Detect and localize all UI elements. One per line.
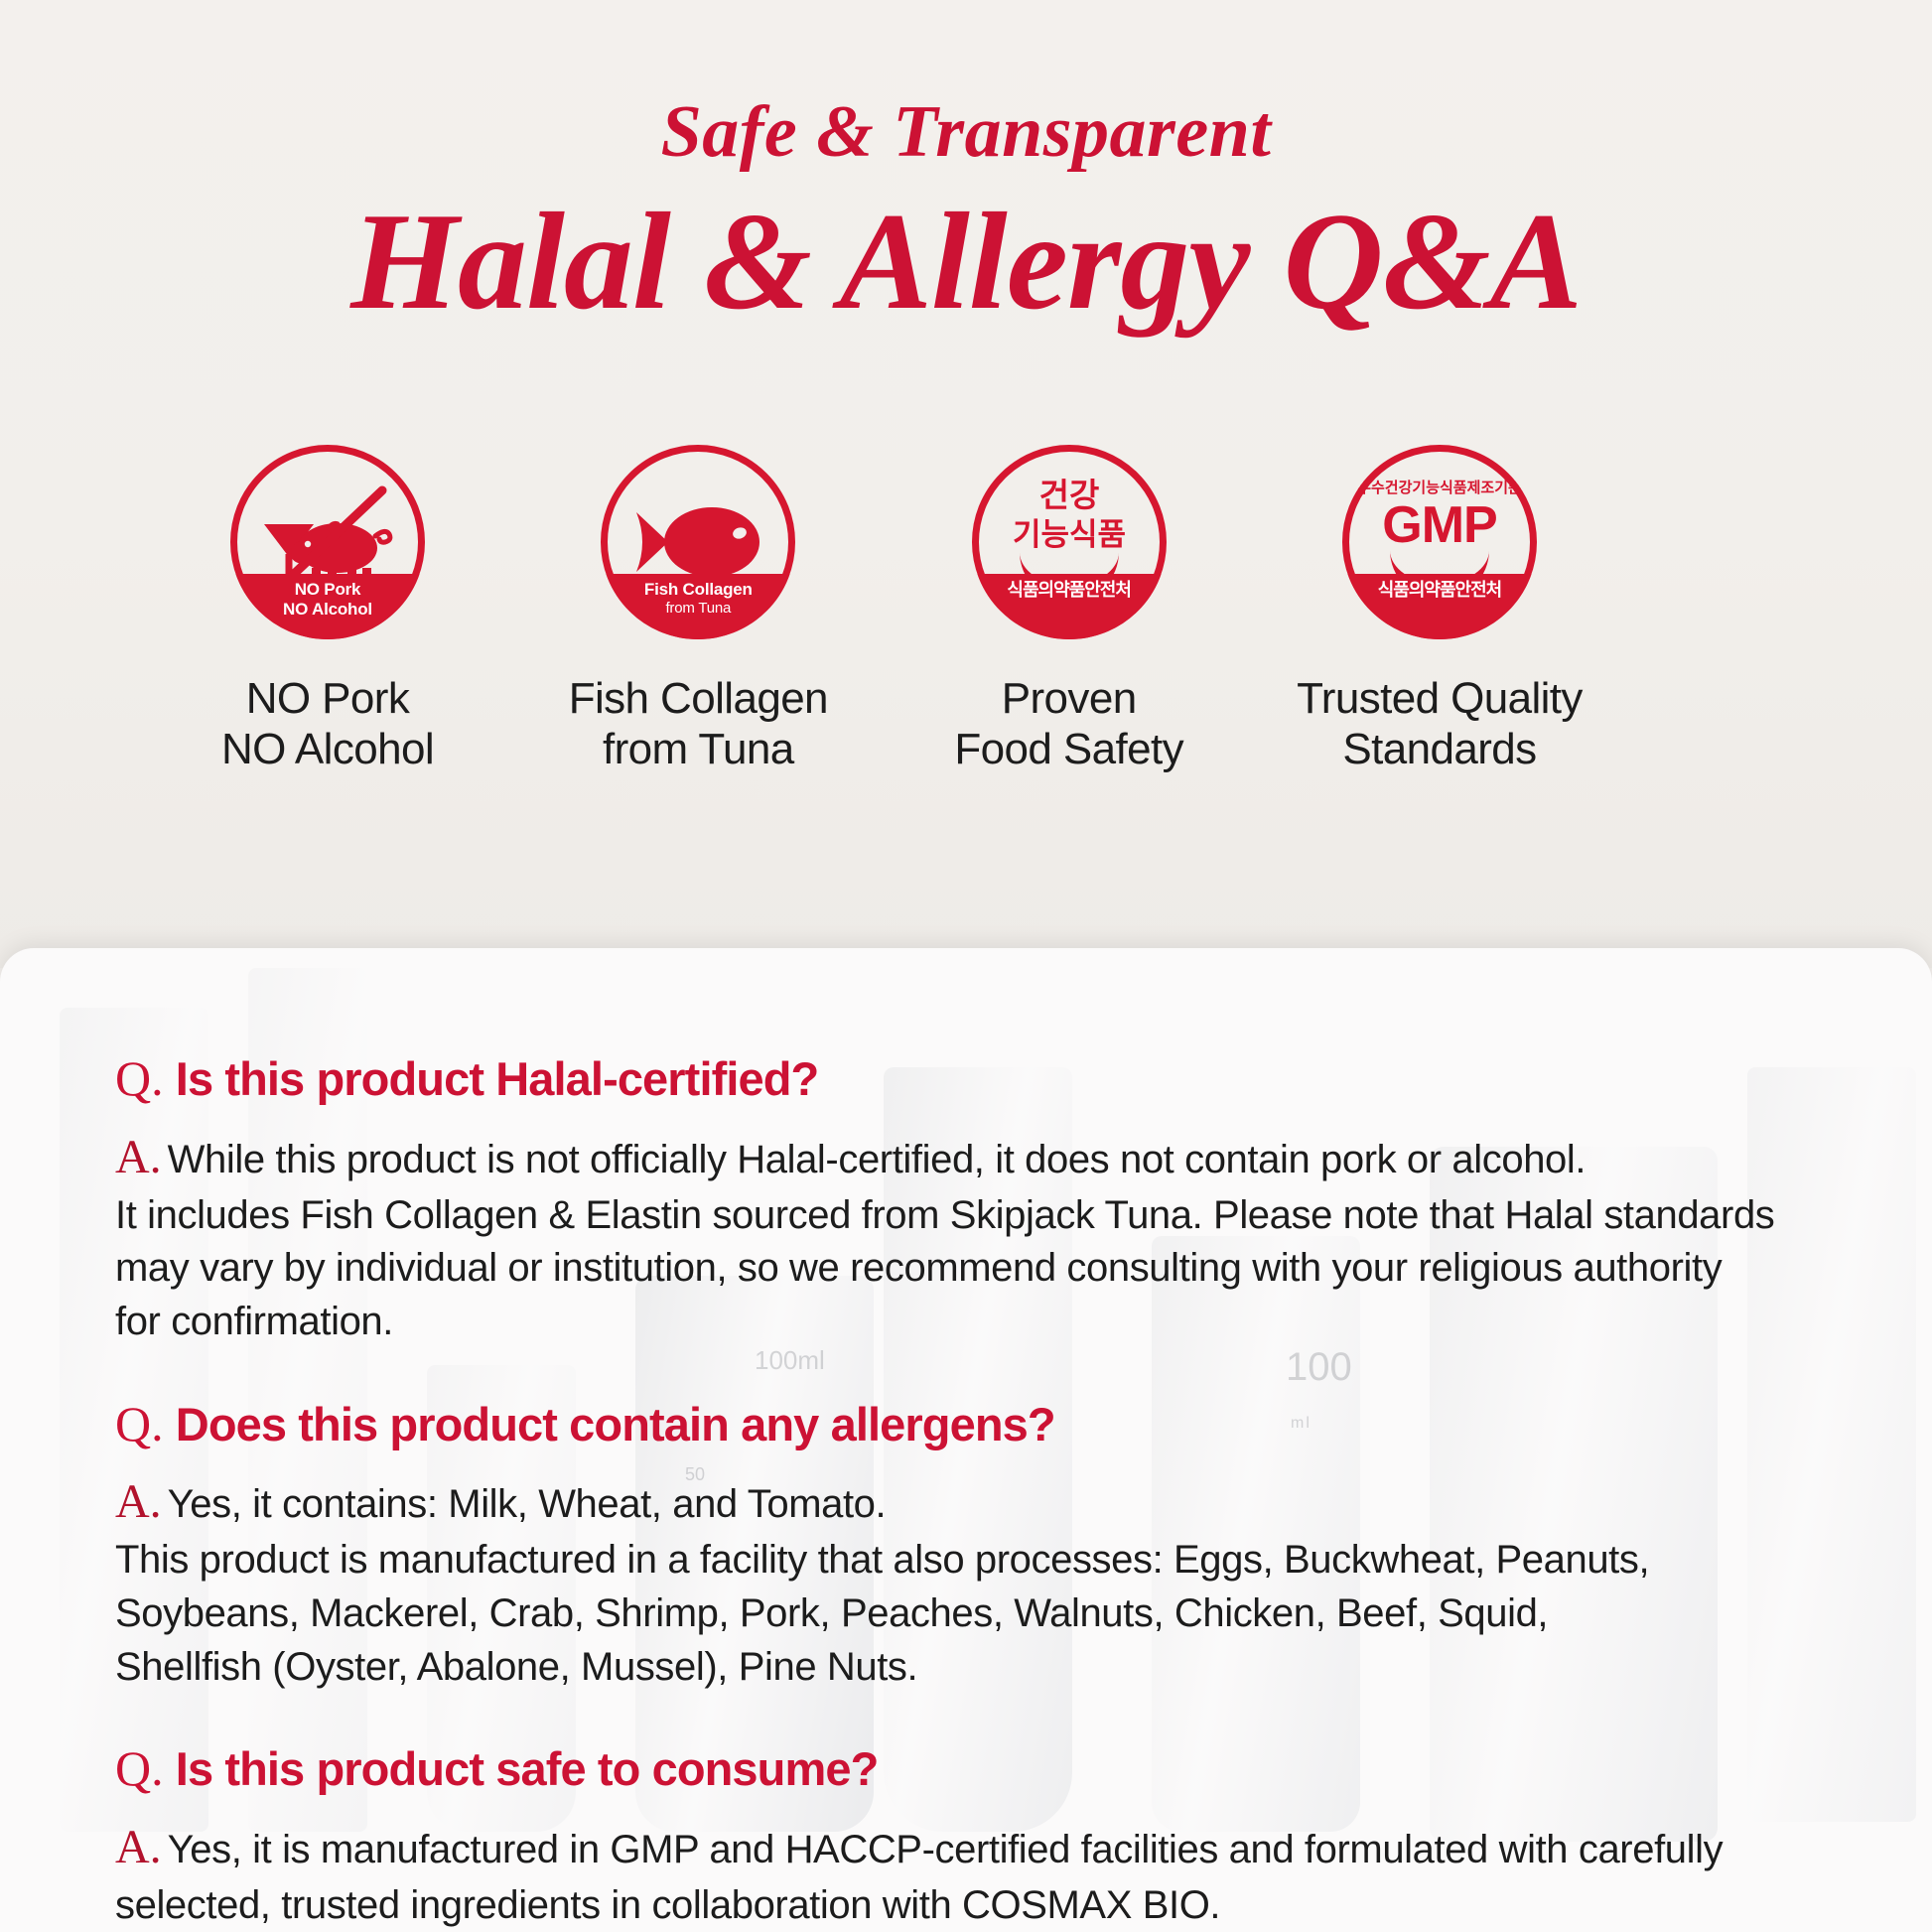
no-pork-no-alcohol-icon: NO Pork NO Alcohol [230, 445, 425, 639]
qa-item-2: Q. Does this product contain any allerge… [115, 1393, 1843, 1695]
badge-seal-line2: NO Alcohol [283, 600, 372, 620]
badge-seal-text: Fish Collagen from Tuna [601, 574, 795, 639]
badge-caption-line1: NO Pork [221, 673, 434, 724]
question-text: Is this product safe to consume? [176, 1742, 879, 1795]
question-text: Is this product Halal-certified? [176, 1052, 819, 1105]
badge-caption-line2: from Tuna [569, 724, 828, 774]
badge-seal-text: NO Pork NO Alcohol [230, 574, 425, 639]
answer-line: Yes, it is manufactured in GMP and HACCP… [168, 1828, 1724, 1871]
badge-caption-line1: Trusted Quality [1297, 673, 1583, 724]
hero-section: Safe & Transparent Halal & Allergy Q&A [0, 0, 1932, 968]
answer-marker: A. [115, 1131, 168, 1183]
answer-line: Soybeans, Mackerel, Crab, Shrimp, Pork, … [115, 1587, 1843, 1641]
fish-collagen-icon: Fish Collagen from Tuna [601, 445, 795, 639]
answer-line: This product is manufactured in a facili… [115, 1534, 1843, 1587]
badge-caption-line1: Fish Collagen [569, 673, 828, 724]
answer-line: Yes, it contains: Milk, Wheat, and Tomat… [168, 1482, 887, 1526]
answer-1: A.While this product is not officially H… [115, 1126, 1843, 1349]
qa-card: 100ml 100 ml 50 Q. Is this product Halal… [0, 948, 1932, 1932]
page-title: Halal & Allergy Q&A [0, 185, 1932, 341]
answer-line: for confirmation. [115, 1296, 1843, 1349]
question-1: Q. Is this product Halal-certified? [115, 1047, 1843, 1110]
badge-seal-line1: 식품의약품안전처 [1007, 580, 1130, 601]
badge-caption-line1: Proven [954, 673, 1183, 724]
badge-gmp: 우수건강기능식품제조기준 GMP 식품의약품안전처 Trusted Qualit… [1291, 445, 1588, 774]
badge-caption-line2: NO Alcohol [221, 724, 434, 774]
certification-badge-row: NO Pork NO Alcohol NO Pork NO Alcohol [179, 445, 1588, 774]
answer-line: While this product is not officially Hal… [168, 1138, 1586, 1181]
qa-item-1: Q. Is this product Halal-certified? A.Wh… [115, 1047, 1843, 1349]
badge-caption: Proven Food Safety [954, 673, 1183, 774]
qa-item-3: Q. Is this product safe to consume? A.Ye… [115, 1737, 1843, 1932]
badge-caption-line2: Standards [1297, 724, 1583, 774]
question-marker: Q. [115, 1740, 164, 1796]
question-marker: Q. [115, 1050, 164, 1106]
badge-no-pork-no-alcohol: NO Pork NO Alcohol NO Pork NO Alcohol [179, 445, 477, 774]
badge-seal-text: 식품의약품안전처 [972, 574, 1167, 639]
answer-marker: A. [115, 1821, 168, 1873]
health-functional-food-seal-icon: 건강 기능식품 식품의약품안전처 [972, 445, 1167, 639]
badge-caption: Trusted Quality Standards [1297, 673, 1583, 774]
badge-caption: Fish Collagen from Tuna [569, 673, 828, 774]
question-text: Does this product contain any allergens? [176, 1398, 1055, 1450]
answer-line: may vary by individual or institution, s… [115, 1242, 1843, 1296]
question-2: Q. Does this product contain any allerge… [115, 1393, 1843, 1455]
headline-group: Safe & Transparent Halal & Allergy Q&A [0, 95, 1932, 341]
answer-marker: A. [115, 1475, 168, 1528]
qa-content: Q. Is this product Halal-certified? A.Wh… [115, 1047, 1843, 1932]
question-3: Q. Is this product safe to consume? [115, 1737, 1843, 1800]
answer-3: A.Yes, it is manufactured in GMP and HAC… [115, 1816, 1843, 1932]
badge-caption: NO Pork NO Alcohol [221, 673, 434, 774]
question-marker: Q. [115, 1396, 164, 1451]
badge-seal-line1: 식품의약품안전처 [1378, 580, 1501, 601]
answer-line: Shellfish (Oyster, Abalone, Mussel), Pin… [115, 1641, 1843, 1695]
badge-seal-text: 식품의약품안전처 [1342, 574, 1537, 639]
badge-seal-line2: from Tuna [665, 600, 731, 618]
answer-line: selected, trusted ingredients in collabo… [115, 1879, 1843, 1932]
answer-2: A.Yes, it contains: Milk, Wheat, and Tom… [115, 1470, 1843, 1694]
eyebrow-text: Safe & Transparent [0, 95, 1932, 169]
badge-seal-line1: Fish Collagen [644, 580, 753, 600]
answer-line: It includes Fish Collagen & Elastin sour… [115, 1189, 1843, 1243]
badge-health-functional-food: 건강 기능식품 식품의약품안전처 Proven Food Safety [920, 445, 1218, 774]
badge-seal-line1: NO Pork [295, 580, 361, 600]
badge-fish-collagen: Fish Collagen from Tuna Fish Collagen fr… [549, 445, 847, 774]
gmp-seal-icon: 우수건강기능식품제조기준 GMP 식품의약품안전처 [1342, 445, 1537, 639]
badge-caption-line2: Food Safety [954, 724, 1183, 774]
